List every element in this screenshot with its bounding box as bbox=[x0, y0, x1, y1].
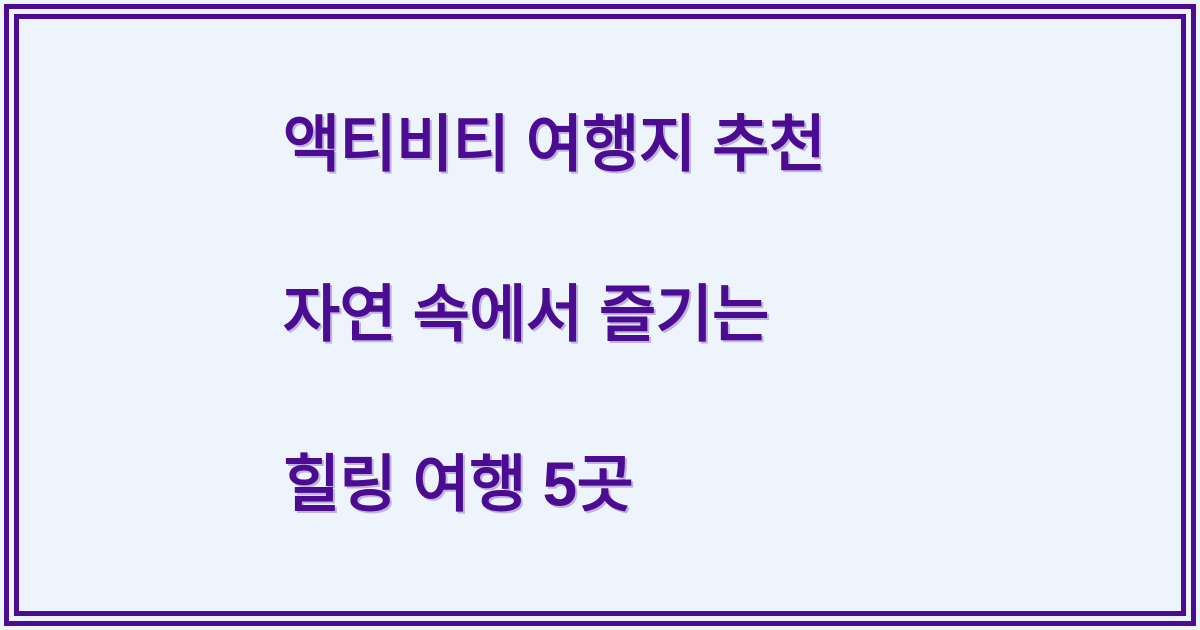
headline-line-2: 자연 속에서 즐기는 bbox=[283, 273, 983, 358]
headline-line-3: 힐링 여행 5곳 bbox=[283, 443, 983, 528]
headline-line-1: 액티비티 여행지 추천 bbox=[283, 103, 983, 188]
page-title: 액티비티 여행지 추천 자연 속에서 즐기는 힐링 여행 5곳 bbox=[283, 18, 983, 613]
thumbnail-card: 액티비티 여행지 추천 자연 속에서 즐기는 힐링 여행 5곳 bbox=[0, 0, 1200, 630]
